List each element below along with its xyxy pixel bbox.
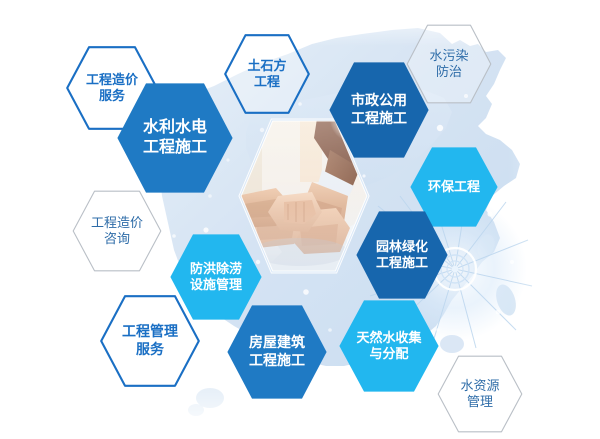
hex-landscape-greening-construction[interactable]: 园林绿化工程施工 [356,211,448,299]
hex-engineering-management-service[interactable]: 工程管理服务 [100,295,200,387]
hex-earthwork-engineering-shape [224,34,310,114]
hex-municipal-public-works[interactable]: 市政公用工程施工 [329,62,429,158]
hexagon-badge-group: 工程造价服务土石方工程水污染防治市政公用工程施工水利水电工程施工环保工程工程造价… [0,0,600,439]
hex-natural-water-collection-distribution-polygon [339,300,438,391]
hex-water-conservancy-hydropower[interactable]: 水利水电工程施工 [117,83,233,193]
hex-engineering-cost-consulting-shape [72,190,162,272]
hex-engineering-management-service-polygon [101,296,199,386]
hex-water-conservancy-hydropower-shape [117,83,233,193]
infographic-canvas: 工程造价服务土石方工程水污染防治市政公用工程施工水利水电工程施工环保工程工程造价… [0,0,600,439]
hex-municipal-public-works-shape [329,62,429,158]
hex-engineering-cost-consulting[interactable]: 工程造价咨询 [72,190,162,272]
hex-municipal-public-works-polygon [329,62,428,157]
hex-engineering-management-service-shape [100,295,200,387]
hex-landscape-greening-construction-shape [356,211,448,299]
hex-natural-water-collection-distribution-shape [339,300,439,392]
hex-water-resources-management[interactable]: 水资源管理 [437,355,523,433]
hex-water-resources-management-shape [437,355,523,433]
hex-water-conservancy-hydropower-polygon [117,83,232,192]
hex-natural-water-collection-distribution[interactable]: 天然水收集与分配 [339,300,439,392]
hex-earthwork-engineering[interactable]: 土石方工程 [224,34,310,114]
hex-landscape-greening-construction-polygon [356,211,447,298]
hex-engineering-cost-consulting-polygon [73,191,161,271]
hex-building-construction-works-polygon [227,305,326,398]
hex-building-construction-works[interactable]: 房屋建筑工程施工 [227,305,327,399]
hex-earthwork-engineering-polygon [225,35,309,113]
hex-building-construction-works-shape [227,305,327,399]
hex-water-resources-management-polygon [438,356,522,432]
